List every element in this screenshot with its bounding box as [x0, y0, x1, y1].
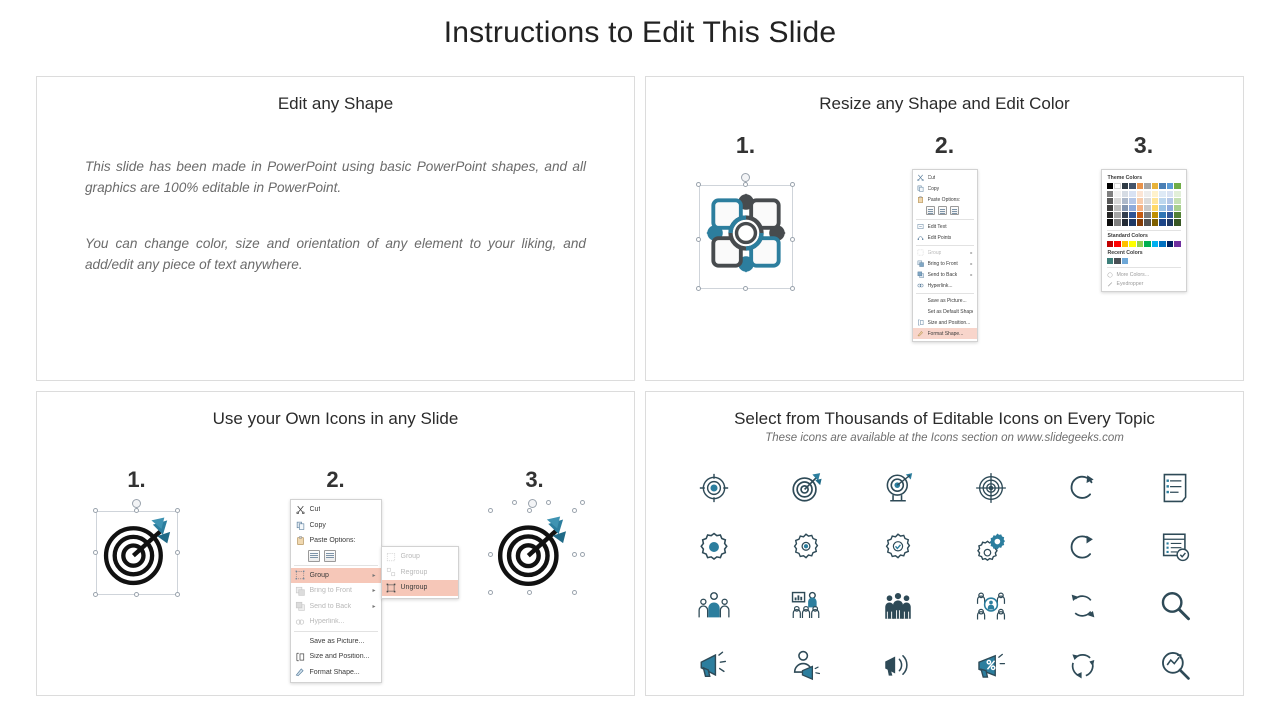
menu-label: Group: [928, 250, 942, 256]
menu-item-edit-text[interactable]: Edit Text: [913, 221, 977, 232]
rotation-handle[interactable]: [132, 499, 141, 508]
theme-tint-row-0: [1107, 191, 1181, 197]
menu-item-group: Group ▸: [913, 247, 977, 258]
format-shape-icon: [916, 329, 925, 338]
theme-color-picker[interactable]: Theme Colors Standard Colors Recent Colo…: [1101, 169, 1187, 292]
theme-swatch-5[interactable]: [1144, 183, 1151, 189]
more-colors-item[interactable]: More Colors...: [1107, 270, 1181, 279]
theme-tint-row-1: [1107, 198, 1181, 204]
theme-tint-3-4[interactable]: [1137, 212, 1144, 218]
menu-label: Save as Picture...: [928, 298, 967, 304]
size-position-icon: [295, 651, 306, 662]
group-icon: [386, 551, 397, 562]
selected-shape-wrapper[interactable]: [693, 173, 799, 295]
resize-handle-tr[interactable]: [175, 508, 180, 513]
theme-tint-4-2[interactable]: [1122, 219, 1129, 225]
theme-tint-4-6[interactable]: [1152, 219, 1159, 225]
chevron-right-icon: ▸: [970, 272, 972, 277]
menu-label: Paste Options:: [310, 537, 356, 544]
none-icon: [916, 296, 925, 305]
theme-tint-row-4: [1107, 219, 1181, 225]
resize-step-numbers: 1. 2. 3.: [646, 132, 1243, 159]
person-megaphone-icon[interactable]: [789, 648, 823, 682]
group-submenu[interactable]: Group Regroup: [381, 546, 459, 599]
resize-handle-tr[interactable]: [790, 182, 795, 187]
slide-canvas: Instructions to Edit This Slide Edit any…: [0, 0, 1280, 720]
group-icon: [916, 248, 925, 257]
paste-option-icons: [913, 205, 977, 217]
resize-handle-bl[interactable]: [93, 592, 98, 597]
theme-tint-1-8[interactable]: [1167, 198, 1174, 204]
regroup-icon: [386, 567, 397, 578]
target-dart-icon[interactable]: [101, 516, 173, 588]
theme-swatch-1[interactable]: [1114, 183, 1121, 189]
menu-divider: [294, 631, 378, 632]
step-number-1: 1.: [646, 132, 845, 159]
scissors-icon: [295, 504, 306, 515]
paste-option-icons: [291, 549, 381, 564]
paste-keep-formatting-icon[interactable]: [926, 206, 935, 215]
recent-swatch-0[interactable]: [1107, 258, 1114, 264]
menu-item-bring-to-front[interactable]: Bring to Front ▸: [913, 258, 977, 269]
send-back-icon: [916, 270, 925, 279]
standard-swatch-7[interactable]: [1159, 241, 1166, 247]
theme-tint-1-5[interactable]: [1144, 198, 1151, 204]
theme-colors-heading: Theme Colors: [1108, 175, 1181, 181]
standard-colors-row[interactable]: [1107, 241, 1181, 247]
speaker-volume-icon[interactable]: [881, 648, 915, 682]
paragraph-2: You can change color, size and orientati…: [85, 233, 586, 275]
subhandle-9[interactable]: [512, 500, 517, 505]
chevron-right-icon: ▸: [970, 250, 972, 255]
ungroup-icon: [386, 582, 397, 593]
eyedropper-label: Eyedropper: [1117, 281, 1144, 287]
recent-colors-heading: Recent Colors: [1108, 250, 1181, 256]
theme-tint-4-7[interactable]: [1159, 219, 1166, 225]
menu-label: Hyperlink...: [928, 283, 953, 289]
four-square-ring-shape[interactable]: [703, 190, 789, 276]
menu-label: Copy: [310, 522, 326, 529]
panel-resize-shape: Resize any Shape and Edit Color 1. 2. 3.: [645, 76, 1244, 381]
submenu-item-regroup: Regroup: [382, 565, 458, 581]
menu-item-copy[interactable]: Copy: [913, 183, 977, 194]
magnifier-chart-icon[interactable]: [1158, 648, 1192, 682]
theme-tint-4-3[interactable]: [1129, 219, 1136, 225]
target-dart-icon[interactable]: [495, 515, 569, 589]
theme-tint-0-4[interactable]: [1137, 191, 1144, 197]
subhandle-1[interactable]: [488, 508, 493, 513]
target-dart-icon[interactable]: [789, 471, 823, 505]
theme-tint-3-6[interactable]: [1152, 212, 1159, 218]
menu-item-size-and-position[interactable]: Size and Position...: [291, 649, 381, 665]
own-icons-step-numbers: 1. 2. 3.: [37, 467, 634, 493]
theme-swatch-8[interactable]: [1167, 183, 1174, 189]
theme-tint-0-6[interactable]: [1152, 191, 1159, 197]
theme-tint-3-1[interactable]: [1114, 212, 1121, 218]
panel-title-editable-icons: Select from Thousands of Editable Icons …: [646, 392, 1243, 429]
menu-label: Hyperlink...: [310, 618, 345, 625]
magnifier-icon[interactable]: [1158, 589, 1192, 623]
panel-editable-icons: Select from Thousands of Editable Icons …: [645, 391, 1244, 696]
menu-label: Cut: [928, 175, 936, 181]
theme-tint-row-2: [1107, 205, 1181, 211]
standard-swatch-8[interactable]: [1167, 241, 1174, 247]
chevron-right-icon: ▸: [372, 572, 375, 579]
recent-swatch-1[interactable]: [1114, 258, 1121, 264]
menu-label: Set as Default Shape: [928, 309, 973, 315]
resize-handle-tl[interactable]: [93, 508, 98, 513]
resize-handle-t[interactable]: [743, 182, 748, 187]
chevron-right-icon: ▸: [372, 603, 375, 610]
subhandle-7[interactable]: [527, 590, 532, 595]
chevron-right-icon: ▸: [372, 587, 375, 594]
edit-shape-text-block: This slide has been made in PowerPoint u…: [37, 114, 634, 275]
theme-tint-3-7[interactable]: [1159, 212, 1166, 218]
resize-handle-br[interactable]: [175, 592, 180, 597]
divider: [1107, 267, 1181, 268]
resize-handle-l[interactable]: [696, 237, 701, 242]
resize-handle-r[interactable]: [175, 550, 180, 555]
paste-keep-formatting-icon[interactable]: [308, 550, 320, 562]
theme-tint-0-1[interactable]: [1114, 191, 1121, 197]
menu-item-format-shape[interactable]: Format Shape...: [291, 665, 381, 681]
panel-edit-any-shape: Edit any Shape This slide has been made …: [36, 76, 635, 381]
menu-item-group[interactable]: Group ▸: [291, 568, 381, 584]
theme-tint-1-3[interactable]: [1129, 198, 1136, 204]
menu-item-set-as-default-shape[interactable]: Set as Default Shape: [913, 306, 977, 317]
menu-label: Edit Text: [928, 224, 947, 230]
rotation-handle[interactable]: [528, 499, 537, 508]
theme-tint-2-5[interactable]: [1144, 205, 1151, 211]
menu-item-paste-options[interactable]: Paste Options:: [913, 194, 977, 205]
theme-tint-1-4[interactable]: [1137, 198, 1144, 204]
edit-text-icon: [916, 222, 925, 231]
menu-label: Group: [310, 572, 329, 579]
menu-label: Regroup: [401, 569, 428, 576]
gear-small-icon[interactable]: [789, 530, 823, 564]
shape-context-menu-wrapper: Cut Copy Paste Options:: [912, 169, 978, 342]
theme-tint-0-0[interactable]: [1107, 191, 1114, 197]
paste-icon: [295, 535, 306, 546]
theme-tint-2-3[interactable]: [1129, 205, 1136, 211]
theme-tint-0-7[interactable]: [1159, 191, 1166, 197]
crosshair-target-icon[interactable]: [697, 471, 731, 505]
menu-item-paste-options[interactable]: Paste Options:: [291, 533, 381, 549]
megaphone-percent-icon[interactable]: [974, 648, 1008, 682]
resize-handle-br[interactable]: [790, 286, 795, 291]
scissors-icon: [916, 173, 925, 182]
panel-subtitle-editable-icons: These icons are available at the Icons s…: [646, 429, 1243, 444]
hyperlink-icon: [916, 281, 925, 290]
subhandle-12[interactable]: [580, 552, 585, 557]
theme-base-row[interactable]: [1107, 183, 1181, 189]
target-stand-icon[interactable]: [881, 471, 915, 505]
circular-arrow-icon[interactable]: [1066, 530, 1100, 564]
theme-tint-1-7[interactable]: [1159, 198, 1166, 204]
menu-item-cut[interactable]: Cut: [913, 172, 977, 183]
menu-label: Save as Picture...: [310, 638, 365, 645]
menu-label: Group: [401, 553, 420, 560]
panel-title-resize-shape: Resize any Shape and Edit Color: [646, 77, 1243, 114]
theme-tint-0-9[interactable]: [1174, 191, 1181, 197]
bring-front-icon: [295, 585, 306, 596]
eyedropper-icon: [1107, 280, 1114, 287]
leader-team-icon[interactable]: [697, 589, 731, 623]
subhandle-11[interactable]: [580, 500, 585, 505]
send-back-icon: [295, 601, 306, 612]
standard-swatch-3[interactable]: [1129, 241, 1136, 247]
subhandle-10[interactable]: [546, 500, 551, 505]
checklist-approved-icon[interactable]: [1158, 530, 1192, 564]
ungrouped-target-wrapper[interactable]: [485, 499, 585, 599]
presentation-team-icon[interactable]: [789, 589, 823, 623]
standard-swatch-4[interactable]: [1137, 241, 1144, 247]
resize-handle-r[interactable]: [790, 237, 795, 242]
menu-item-hyperlink: Hyperlink...: [291, 614, 381, 630]
eyedropper-item[interactable]: Eyedropper: [1107, 279, 1181, 288]
theme-swatch-7[interactable]: [1159, 183, 1166, 189]
resize-handle-bl[interactable]: [696, 286, 701, 291]
menu-item-cut[interactable]: Cut: [291, 502, 381, 518]
menu-divider: [916, 293, 974, 294]
theme-swatch-0[interactable]: [1107, 183, 1114, 189]
subhandle-5[interactable]: [572, 552, 577, 557]
theme-tint-0-2[interactable]: [1122, 191, 1129, 197]
subhandle-8[interactable]: [572, 590, 577, 595]
megaphone-icon[interactable]: [697, 648, 731, 682]
theme-tint-3-3[interactable]: [1129, 212, 1136, 218]
page-title: Instructions to Edit This Slide: [0, 16, 1280, 50]
subhandle-6[interactable]: [488, 590, 493, 595]
shape-context-menu[interactable]: Cut Copy Paste Options:: [912, 169, 978, 342]
resize-handle-t[interactable]: [134, 508, 139, 513]
theme-tint-3-0[interactable]: [1107, 212, 1114, 218]
resize-handle-b[interactable]: [134, 592, 139, 597]
theme-tint-2-2[interactable]: [1122, 205, 1129, 211]
menu-item-save-as-picture[interactable]: Save as Picture...: [913, 295, 977, 306]
grouped-target-wrapper[interactable]: [90, 499, 184, 599]
subhandle-4[interactable]: [488, 552, 493, 557]
standard-swatch-9[interactable]: [1174, 241, 1181, 247]
theme-tint-4-0[interactable]: [1107, 219, 1114, 225]
group-people-icon[interactable]: [881, 589, 915, 623]
menu-label: Cut: [310, 506, 321, 513]
theme-swatch-3[interactable]: [1129, 183, 1136, 189]
format-shape-icon: [295, 667, 306, 678]
theme-tint-1-1[interactable]: [1114, 198, 1121, 204]
theme-tint-2-7[interactable]: [1159, 205, 1166, 211]
size-position-icon: [916, 318, 925, 327]
theme-tint-2-6[interactable]: [1152, 205, 1159, 211]
step-number-2: 2.: [845, 132, 1044, 159]
chevron-right-icon: ▸: [970, 261, 972, 266]
divider: [1107, 230, 1181, 231]
gear-icon[interactable]: [697, 530, 731, 564]
panel-title-edit-shape: Edit any Shape: [37, 77, 634, 114]
theme-tint-4-4[interactable]: [1137, 219, 1144, 225]
menu-item-copy[interactable]: Copy: [291, 518, 381, 534]
standard-swatch-1[interactable]: [1114, 241, 1121, 247]
theme-tint-4-8[interactable]: [1167, 219, 1174, 225]
theme-tint-2-8[interactable]: [1167, 205, 1174, 211]
gear-check-icon[interactable]: [881, 530, 915, 564]
theme-tint-1-9[interactable]: [1174, 198, 1181, 204]
menu-label: Send to Back: [928, 272, 958, 278]
submenu-item-group: Group: [382, 549, 458, 565]
subhandle-3[interactable]: [572, 508, 577, 513]
subhandle-2[interactable]: [527, 508, 532, 513]
step-number-3: 3.: [1044, 132, 1243, 159]
menu-label: Size and Position...: [928, 320, 971, 326]
theme-tint-2-0[interactable]: [1107, 205, 1114, 211]
icon-library-grid: [668, 458, 1221, 694]
copy-icon: [295, 520, 306, 531]
theme-swatch-4[interactable]: [1137, 183, 1144, 189]
recent-swatch-2[interactable]: [1122, 258, 1129, 264]
theme-tint-grid[interactable]: [1107, 191, 1181, 226]
none-icon: [295, 636, 306, 647]
standard-swatch-6[interactable]: [1152, 241, 1159, 247]
menu-label: Bring to Front: [928, 261, 958, 267]
menu-divider: [294, 565, 378, 566]
theme-tint-row-3: [1107, 212, 1181, 218]
step-number-3: 3.: [435, 467, 634, 493]
menu-item-size-and-position[interactable]: Size and Position...: [913, 317, 977, 328]
theme-tint-3-8[interactable]: [1167, 212, 1174, 218]
rotation-handle[interactable]: [741, 173, 750, 182]
menu-label: Format Shape...: [310, 669, 360, 676]
standard-colors-heading: Standard Colors: [1108, 233, 1181, 239]
theme-swatch-2[interactable]: [1122, 183, 1129, 189]
menu-label: Format Shape...: [928, 331, 964, 337]
edit-points-icon: [916, 233, 925, 242]
theme-tint-3-9[interactable]: [1174, 212, 1181, 218]
menu-label: Edit Points: [928, 235, 952, 241]
resize-handle-b[interactable]: [743, 286, 748, 291]
menu-label: Send to Back: [310, 603, 352, 610]
team-meeting-icon[interactable]: [974, 589, 1008, 623]
step-number-2: 2.: [236, 467, 435, 493]
theme-tint-1-6[interactable]: [1152, 198, 1159, 204]
menu-divider: [916, 245, 974, 246]
standard-swatch-5[interactable]: [1144, 241, 1151, 247]
double-gear-icon[interactable]: [974, 530, 1008, 564]
standard-swatch-0[interactable]: [1107, 241, 1114, 247]
theme-tint-2-9[interactable]: [1174, 205, 1181, 211]
menu-item-format-shape[interactable]: Format Shape...: [913, 328, 977, 339]
menu-divider: [916, 219, 974, 220]
panel-title-own-icons: Use your Own Icons in any Slide: [37, 392, 634, 429]
refresh-arrow-icon[interactable]: [1066, 471, 1100, 505]
theme-swatch-6[interactable]: [1152, 183, 1159, 189]
theme-tint-3-2[interactable]: [1122, 212, 1129, 218]
standard-swatch-2[interactable]: [1122, 241, 1129, 247]
theme-tint-2-1[interactable]: [1114, 205, 1121, 211]
copy-icon: [916, 184, 925, 193]
resize-handle-tl[interactable]: [696, 182, 701, 187]
none-icon: [916, 307, 925, 316]
theme-tint-4-5[interactable]: [1144, 219, 1151, 225]
menu-label: Paste Options:: [928, 197, 961, 203]
menu-item-bring-to-front: Bring to Front ▸: [291, 583, 381, 599]
resize-handle-l[interactable]: [93, 550, 98, 555]
paste-picture-icon[interactable]: [324, 550, 336, 562]
panel-own-icons: Use your Own Icons in any Slide 1. 2. 3.: [36, 391, 635, 696]
theme-tint-2-4[interactable]: [1137, 205, 1144, 211]
menu-label: Size and Position...: [310, 653, 370, 660]
crosshair-scope-icon[interactable]: [974, 471, 1008, 505]
checklist-document-icon[interactable]: [1158, 471, 1192, 505]
menu-label: Ungroup: [401, 584, 428, 591]
theme-tint-0-5[interactable]: [1144, 191, 1151, 197]
bring-front-icon: [916, 259, 925, 268]
menu-item-send-to-back: Send to Back ▸: [291, 599, 381, 615]
menu-item-hyperlink[interactable]: Hyperlink...: [913, 280, 977, 291]
hyperlink-icon: [295, 616, 306, 627]
theme-tint-3-5[interactable]: [1144, 212, 1151, 218]
cycle-arrows-icon[interactable]: [1066, 589, 1100, 623]
group-icon: [295, 570, 306, 581]
panel-grid: Edit any Shape This slide has been made …: [36, 76, 1244, 696]
theme-tint-1-2[interactable]: [1122, 198, 1129, 204]
menu-label: Bring to Front: [310, 587, 352, 594]
more-colors-label: More Colors...: [1117, 272, 1150, 278]
theme-tint-4-9[interactable]: [1174, 219, 1181, 225]
resize-figures: Cut Copy Paste Options:: [646, 169, 1243, 342]
own-icons-figures: Cut Copy Paste Options:: [37, 499, 634, 683]
theme-tint-1-0[interactable]: [1107, 198, 1114, 204]
palette-icon: [1107, 271, 1114, 278]
menu-item-save-as-picture[interactable]: Save as Picture...: [291, 634, 381, 650]
theme-tint-4-1[interactable]: [1114, 219, 1121, 225]
theme-swatch-9[interactable]: [1174, 183, 1181, 189]
menu-item-edit-points[interactable]: Edit Points: [913, 232, 977, 243]
theme-tint-0-3[interactable]: [1129, 191, 1136, 197]
paste-picture-icon[interactable]: [938, 206, 947, 215]
recent-colors-row[interactable]: [1107, 258, 1181, 264]
circular-cycle-icon[interactable]: [1066, 648, 1100, 682]
menu-label: Copy: [928, 186, 940, 192]
submenu-item-ungroup[interactable]: Ungroup: [382, 580, 458, 596]
theme-tint-0-8[interactable]: [1167, 191, 1174, 197]
menu-item-send-to-back[interactable]: Send to Back ▸: [913, 269, 977, 280]
group-context-menu-wrapper: Cut Copy Paste Options:: [290, 499, 382, 683]
paste-icon: [916, 195, 925, 204]
step-number-1: 1.: [37, 467, 236, 493]
paragraph-1: This slide has been made in PowerPoint u…: [85, 156, 586, 198]
group-context-menu[interactable]: Cut Copy Paste Options:: [290, 499, 382, 683]
paste-destination-theme-icon[interactable]: [950, 206, 959, 215]
